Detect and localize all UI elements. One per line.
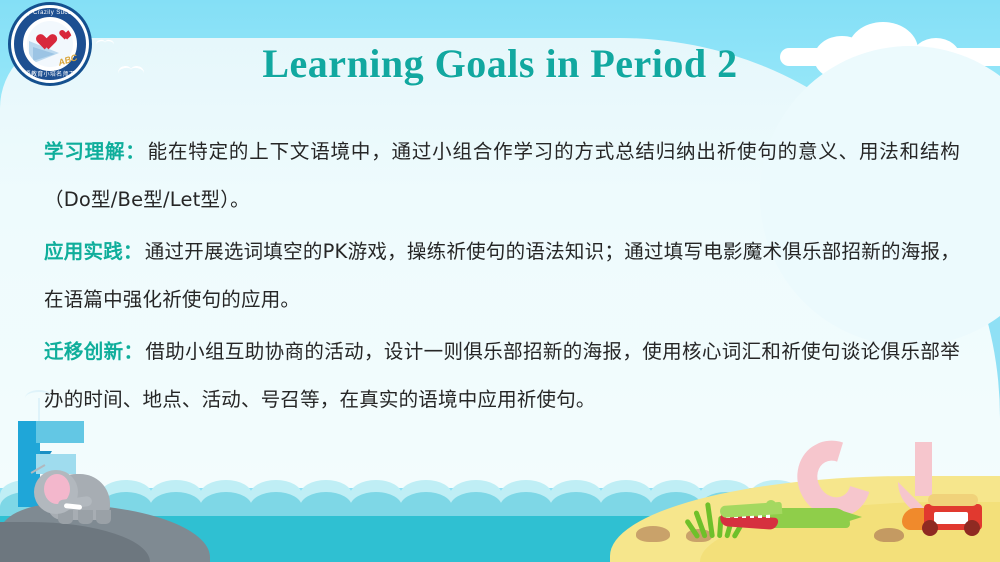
crocodile-tail (840, 510, 862, 524)
jeep-window (934, 512, 968, 524)
heart-icon (57, 26, 69, 37)
goal-label: 学习理解： (44, 140, 146, 163)
goals-list: 学习理解：能在特定的上下文语境中，通过小组合作学习的方式总结归纳出祈使句的意义、… (44, 128, 960, 428)
jeep-wheel (922, 520, 938, 536)
goal-label: 迁移创新： (44, 340, 143, 363)
jeep-wheel (964, 520, 980, 536)
goal-text: 借助小组互助协商的活动，设计一则俱乐部招新的海报，使用核心词汇和祈使句谈论俱乐部… (44, 340, 960, 411)
jeep-icon (916, 492, 990, 536)
elephant-leg (78, 510, 93, 524)
jeep-roof (928, 494, 978, 506)
letter-e-bar (36, 421, 84, 443)
goal-text: 能在特定的上下文语境中，通过小组合作学习的方式总结归纳出祈使句的意义、用法和结构… (44, 140, 960, 211)
goal-item: 学习理解：能在特定的上下文语境中，通过小组合作学习的方式总结归纳出祈使句的意义、… (44, 128, 960, 224)
stone-shape (874, 528, 904, 542)
goal-item: 迁移创新：借助小组互助协商的活动，设计一则俱乐部招新的海报，使用核心词汇和祈使句… (44, 328, 960, 424)
goal-item: 应用实践：通过开展选词填空的PK游戏，操练祈使句的语法知识；通过填写电影魔术俱乐… (44, 228, 960, 324)
crocodile-icon (720, 500, 850, 534)
badge-top-text: Happy Crazily Successfully (11, 10, 92, 16)
page-title: Learning Goals in Period 2 (0, 40, 1000, 87)
elephant-icon (34, 464, 118, 524)
goal-label: 应用实践： (44, 240, 143, 263)
stone-shape (636, 526, 670, 542)
goal-text: 通过开展选词填空的PK游戏，操练祈使句的语法知识；通过填写电影魔术俱乐部招新的海… (44, 240, 960, 311)
elephant-leg (96, 510, 111, 524)
slide: Happy Crazily Successfully 英语教育小培名师工作室 A… (0, 0, 1000, 562)
crocodile-eye (766, 500, 776, 509)
